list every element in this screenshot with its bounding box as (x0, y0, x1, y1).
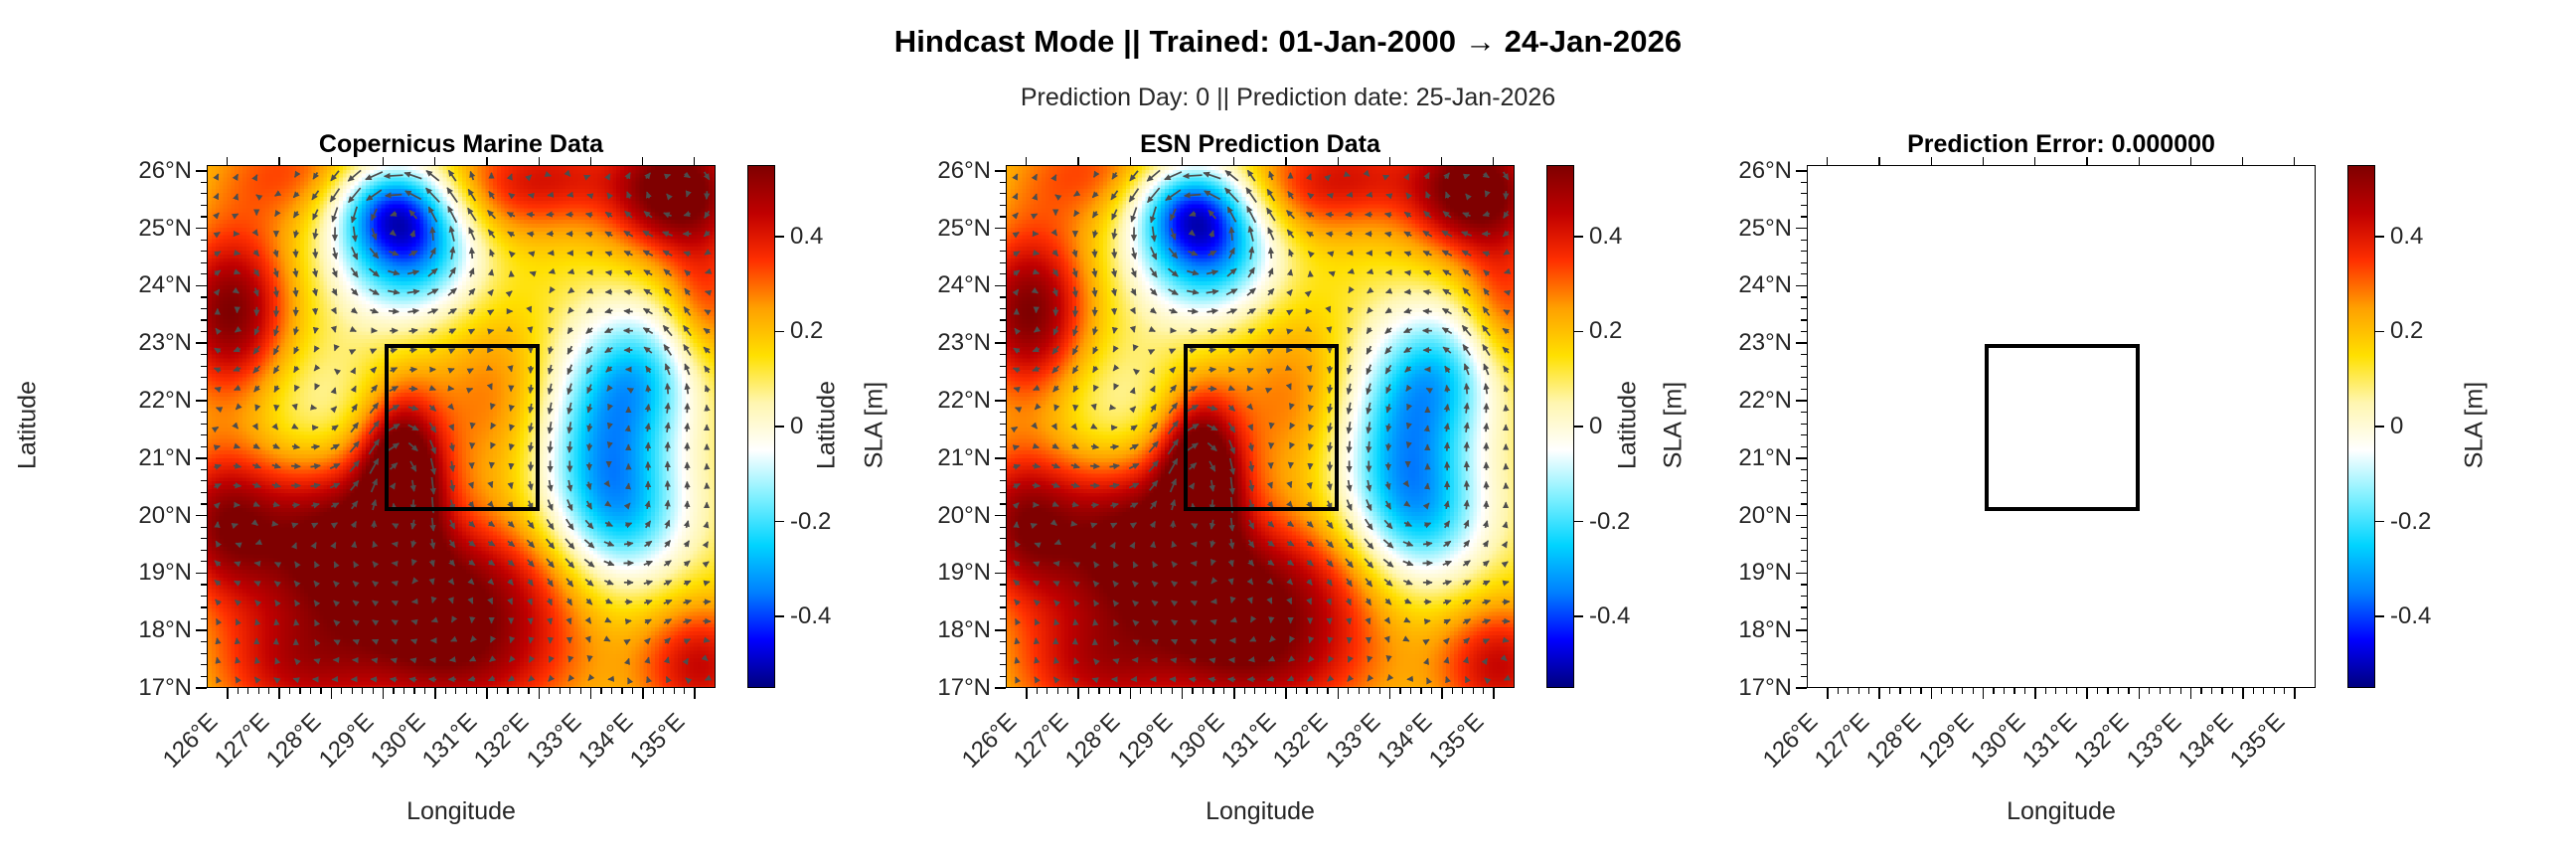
xtick-minor-error-2-3 (1962, 688, 1963, 694)
ytick-minor-error-4-2 (1801, 424, 1807, 425)
ytick-minor-error-4-4 (1801, 446, 1807, 447)
ytick-minor-copernicus-1-1 (201, 240, 207, 241)
xtick-top-error-3 (1983, 157, 1984, 165)
xtick-minor-copernicus-6-4 (580, 688, 581, 694)
ytick-label-esn-5: 21°N (817, 444, 991, 472)
ytick-minor-copernicus-8-1 (201, 641, 207, 642)
xtick-minor-copernicus-0-3 (258, 688, 259, 694)
map-axes-esn (1006, 165, 1515, 688)
xtick-top-esn-2 (1130, 157, 1131, 165)
panel-title-copernicus: Copernicus Marine Data (207, 130, 716, 159)
ytick-label-esn-4: 22°N (817, 387, 991, 415)
xaxis-title-copernicus: Longitude (207, 797, 716, 826)
xtick-minor-copernicus-4-2 (455, 688, 456, 694)
xtick-minor-esn-5-1 (1296, 688, 1297, 694)
ytick-minor-error-2-1 (1801, 296, 1807, 297)
ytick-minor-esn-5-4 (1000, 503, 1006, 504)
xtick-minor-esn-2-2 (1151, 688, 1152, 694)
ytick-label-copernicus-2: 24°N (18, 271, 192, 299)
ytick-major-esn-0 (995, 170, 1006, 172)
xtick-top-esn-9 (1493, 157, 1494, 165)
xtick-minor-copernicus-4-4 (476, 688, 477, 694)
ytick-minor-error-6-1 (1801, 527, 1807, 528)
xtick-minor-error-1-1 (1889, 688, 1890, 694)
ytick-label-error-9: 17°N (1618, 674, 1792, 702)
ytick-minor-error-8-2 (1801, 653, 1807, 654)
ytick-label-error-8: 18°N (1618, 616, 1792, 644)
ytick-label-copernicus-3: 23°N (18, 329, 192, 357)
ytick-minor-copernicus-3-1 (201, 354, 207, 355)
xtick-minor-error-8-1 (2253, 688, 2254, 694)
xtick-minor-esn-7-4 (1431, 688, 1432, 694)
ytick-minor-error-1-2 (1801, 251, 1807, 252)
xtick-minor-esn-6-2 (1359, 688, 1360, 694)
ytick-major-copernicus-9 (196, 687, 207, 689)
ytick-label-error-2: 24°N (1618, 271, 1792, 299)
ytick-minor-error-7-2 (1801, 596, 1807, 597)
ytick-minor-error-4-3 (1801, 434, 1807, 435)
xtick-minor-error-0-2 (1848, 688, 1849, 694)
xtick-minor-esn-5-3 (1317, 688, 1318, 694)
ytick-minor-error-6-3 (1801, 550, 1807, 551)
ytick-minor-copernicus-5-2 (201, 480, 207, 481)
xtick-minor-error-5-4 (2128, 688, 2129, 694)
ytick-label-esn-8: 18°N (817, 616, 991, 644)
ytick-label-esn-6: 20°N (817, 502, 991, 530)
xtick-top-error-9 (2294, 157, 2295, 165)
xtick-major-esn-0 (1026, 688, 1028, 699)
xtick-top-error-1 (1878, 157, 1879, 165)
xtick-top-copernicus-0 (227, 157, 228, 165)
colorbar-tick-copernicus-4 (775, 615, 784, 617)
ytick-major-copernicus-0 (196, 170, 207, 172)
ytick-minor-error-8-3 (1801, 664, 1807, 665)
ytick-minor-copernicus-6-3 (201, 550, 207, 551)
xtick-minor-esn-8-4 (1483, 688, 1484, 694)
ytick-minor-esn-3-1 (1000, 354, 1006, 355)
colorbar-tick-error-0 (2375, 236, 2384, 238)
ytick-minor-error-6-4 (1801, 561, 1807, 562)
xtick-minor-esn-1-2 (1098, 688, 1099, 694)
xtick-minor-esn-4-4 (1275, 688, 1276, 694)
ytick-major-copernicus-3 (196, 342, 207, 344)
ytick-minor-esn-6-4 (1000, 561, 1006, 562)
xtick-minor-esn-7-3 (1420, 688, 1421, 694)
ytick-label-esn-7: 19°N (817, 559, 991, 587)
ytick-label-esn-2: 24°N (817, 271, 991, 299)
xtick-major-copernicus-9 (694, 688, 696, 699)
xtick-minor-copernicus-3-3 (413, 688, 414, 694)
xtick-top-copernicus-7 (590, 157, 591, 165)
ytick-minor-copernicus-6-2 (201, 538, 207, 539)
ytick-label-copernicus-9: 17°N (18, 674, 192, 702)
ytick-minor-esn-1-1 (1000, 240, 1006, 241)
ytick-minor-esn-0-3 (1000, 205, 1006, 206)
ytick-minor-error-5-2 (1801, 480, 1807, 481)
map-axes-error (1807, 165, 2316, 688)
colorbar-tick-label-error-1: 0.2 (2390, 317, 2423, 345)
colorbar-tick-copernicus-3 (775, 521, 784, 523)
ytick-minor-esn-3-4 (1000, 389, 1006, 390)
ytick-major-esn-1 (995, 228, 1006, 230)
ytick-minor-copernicus-4-1 (201, 412, 207, 413)
ytick-minor-error-6-2 (1801, 538, 1807, 539)
ytick-minor-copernicus-8-3 (201, 664, 207, 665)
xtick-major-error-7 (2190, 688, 2192, 699)
xtick-major-esn-1 (1077, 688, 1079, 699)
ytick-major-error-3 (1796, 342, 1807, 344)
ytick-minor-copernicus-2-3 (201, 319, 207, 320)
region-of-interest-box (1985, 344, 2141, 511)
region-of-interest-box (1184, 344, 1340, 511)
ytick-major-error-2 (1796, 285, 1807, 287)
ytick-minor-error-2-4 (1801, 331, 1807, 332)
xtick-minor-copernicus-1-2 (299, 688, 300, 694)
ytick-label-copernicus-0: 26°N (18, 157, 192, 185)
xtick-top-copernicus-9 (694, 157, 695, 165)
xtick-major-error-4 (2034, 688, 2036, 699)
xtick-minor-error-8-2 (2263, 688, 2264, 694)
colorbar-tick-esn-3 (1574, 521, 1583, 523)
xtick-top-copernicus-2 (331, 157, 332, 165)
xtick-major-error-3 (1983, 688, 1985, 699)
ytick-minor-copernicus-6-1 (201, 527, 207, 528)
xtick-minor-copernicus-2-1 (341, 688, 342, 694)
xtick-major-error-5 (2086, 688, 2088, 699)
xtick-major-esn-7 (1389, 688, 1391, 699)
xtick-minor-esn-3-1 (1192, 688, 1193, 694)
ytick-minor-esn-6-2 (1000, 538, 1006, 539)
ytick-minor-copernicus-0-3 (201, 205, 207, 206)
ytick-minor-copernicus-2-2 (201, 308, 207, 309)
ytick-minor-error-5-4 (1801, 503, 1807, 504)
ytick-major-copernicus-8 (196, 629, 207, 631)
xtick-minor-copernicus-7-1 (600, 688, 601, 694)
colorbar-title-esn: SLA [m] (1660, 336, 1689, 515)
xtick-minor-esn-0-1 (1037, 688, 1038, 694)
xtick-minor-error-5-1 (2097, 688, 2098, 694)
xtick-minor-error-2-2 (1952, 688, 1953, 694)
xtick-minor-error-5-3 (2118, 688, 2119, 694)
xaxis-title-esn: Longitude (1006, 797, 1515, 826)
xtick-minor-esn-1-4 (1119, 688, 1120, 694)
ytick-minor-esn-7-4 (1000, 618, 1006, 619)
ytick-major-copernicus-7 (196, 573, 207, 575)
xtick-major-copernicus-5 (486, 688, 488, 699)
ytick-minor-esn-8-3 (1000, 664, 1006, 665)
ytick-label-error-7: 19°N (1618, 559, 1792, 587)
ytick-label-copernicus-6: 20°N (18, 502, 192, 530)
xtick-minor-copernicus-6-2 (560, 688, 561, 694)
ytick-minor-esn-2-4 (1000, 331, 1006, 332)
ytick-major-copernicus-1 (196, 228, 207, 230)
colorbar-esn (1546, 165, 1574, 688)
xtick-minor-esn-5-4 (1327, 688, 1328, 694)
xtick-major-error-1 (1878, 688, 1880, 699)
ytick-minor-error-1-4 (1801, 273, 1807, 274)
ytick-minor-error-7-4 (1801, 618, 1807, 619)
xtick-minor-copernicus-8-2 (663, 688, 664, 694)
xtick-major-esn-3 (1182, 688, 1184, 699)
xtick-top-esn-5 (1285, 157, 1286, 165)
ytick-minor-error-2-2 (1801, 308, 1807, 309)
ytick-minor-copernicus-7-1 (201, 584, 207, 585)
xtick-minor-copernicus-3-2 (403, 688, 404, 694)
ytick-minor-error-7-1 (1801, 584, 1807, 585)
ytick-minor-esn-1-4 (1000, 273, 1006, 274)
ytick-minor-error-3-2 (1801, 366, 1807, 367)
xtick-minor-error-3-3 (2013, 688, 2014, 694)
xtick-top-error-5 (2086, 157, 2087, 165)
ytick-minor-error-0-4 (1801, 216, 1807, 217)
xtick-minor-copernicus-2-2 (352, 688, 353, 694)
yaxis-title-esn: Latitude (813, 276, 842, 575)
xtick-minor-copernicus-8-4 (684, 688, 685, 694)
yaxis-title-copernicus: Latitude (14, 276, 43, 575)
xtick-minor-copernicus-5-1 (497, 688, 498, 694)
xtick-major-esn-5 (1285, 688, 1287, 699)
xtick-minor-esn-0-3 (1057, 688, 1058, 694)
colorbar-title-copernicus: SLA [m] (861, 336, 889, 515)
xtick-minor-error-7-2 (2211, 688, 2212, 694)
ytick-minor-copernicus-3-3 (201, 377, 207, 378)
yaxis-title-error: Latitude (1614, 276, 1643, 575)
ytick-major-error-8 (1796, 629, 1807, 631)
xtick-major-esn-4 (1233, 688, 1235, 699)
xtick-minor-esn-4-1 (1244, 688, 1245, 694)
ytick-label-copernicus-8: 18°N (18, 616, 192, 644)
ytick-minor-error-1-1 (1801, 240, 1807, 241)
xtick-minor-copernicus-5-4 (528, 688, 529, 694)
xtick-major-esn-9 (1493, 688, 1495, 699)
figure-suptitle: Hindcast Mode || Trained: 01-Jan-2000 → … (0, 24, 2576, 60)
xtick-top-esn-6 (1338, 157, 1339, 165)
xtick-minor-error-4-3 (2066, 688, 2067, 694)
xtick-minor-error-7-3 (2221, 688, 2222, 694)
xtick-minor-error-3-2 (2004, 688, 2005, 694)
xtick-minor-error-8-3 (2274, 688, 2275, 694)
xtick-major-esn-2 (1130, 688, 1132, 699)
xtick-top-error-8 (2242, 157, 2243, 165)
xtick-minor-error-2-1 (1941, 688, 1942, 694)
ytick-major-esn-3 (995, 342, 1006, 344)
ytick-minor-esn-4-2 (1000, 424, 1006, 425)
xtick-major-error-6 (2139, 688, 2141, 699)
ytick-major-copernicus-5 (196, 457, 207, 459)
xtick-minor-copernicus-3-4 (424, 688, 425, 694)
ytick-major-esn-2 (995, 285, 1006, 287)
xtick-minor-copernicus-1-4 (320, 688, 321, 694)
ytick-minor-esn-8-4 (1000, 676, 1006, 677)
ytick-minor-copernicus-1-2 (201, 251, 207, 252)
xtick-minor-copernicus-6-3 (569, 688, 570, 694)
xtick-minor-esn-5-2 (1306, 688, 1307, 694)
xtick-minor-esn-8-3 (1473, 688, 1474, 694)
ytick-minor-error-1-3 (1801, 262, 1807, 263)
colorbar-title-error: SLA [m] (2461, 336, 2490, 515)
xtick-minor-esn-0-4 (1067, 688, 1068, 694)
ytick-label-copernicus-5: 21°N (18, 444, 192, 472)
xtick-minor-error-4-1 (2045, 688, 2046, 694)
ytick-minor-esn-3-2 (1000, 366, 1006, 367)
xtick-minor-copernicus-0-4 (268, 688, 269, 694)
ytick-major-esn-7 (995, 573, 1006, 575)
ytick-major-copernicus-4 (196, 400, 207, 402)
ytick-minor-esn-0-2 (1000, 193, 1006, 194)
xtick-major-error-2 (1931, 688, 1933, 699)
ytick-minor-esn-8-1 (1000, 641, 1006, 642)
ytick-minor-copernicus-0-2 (201, 193, 207, 194)
xtick-minor-esn-1-1 (1088, 688, 1089, 694)
ytick-minor-error-3-4 (1801, 389, 1807, 390)
ytick-minor-esn-7-2 (1000, 596, 1006, 597)
ytick-minor-error-0-2 (1801, 193, 1807, 194)
ytick-minor-error-5-3 (1801, 492, 1807, 493)
xtick-minor-copernicus-2-3 (362, 688, 363, 694)
ytick-label-copernicus-1: 25°N (18, 215, 192, 243)
ytick-minor-esn-7-1 (1000, 584, 1006, 585)
xtick-minor-copernicus-7-3 (621, 688, 622, 694)
xtick-major-copernicus-8 (642, 688, 644, 699)
ytick-minor-copernicus-2-4 (201, 331, 207, 332)
ytick-minor-esn-7-3 (1000, 606, 1006, 607)
ytick-minor-error-4-1 (1801, 412, 1807, 413)
region-of-interest-box (385, 344, 541, 511)
ytick-minor-copernicus-5-3 (201, 492, 207, 493)
colorbar-tick-label-error-0: 0.4 (2390, 223, 2423, 251)
xaxis-title-error: Longitude (1807, 797, 2316, 826)
colorbar-tick-label-error-3: -0.2 (2390, 508, 2431, 536)
colorbar-error (2347, 165, 2375, 688)
xtick-major-error-9 (2294, 688, 2296, 699)
ytick-minor-copernicus-4-3 (201, 434, 207, 435)
ytick-major-esn-5 (995, 457, 1006, 459)
ytick-major-error-7 (1796, 573, 1807, 575)
xtick-minor-error-3-1 (1993, 688, 1994, 694)
ytick-minor-esn-5-2 (1000, 480, 1006, 481)
ytick-minor-error-7-3 (1801, 606, 1807, 607)
ytick-minor-copernicus-4-4 (201, 446, 207, 447)
xtick-major-copernicus-3 (383, 688, 385, 699)
colorbar-tick-copernicus-1 (775, 331, 784, 333)
ytick-minor-esn-5-1 (1000, 469, 1006, 470)
xtick-minor-esn-2-1 (1140, 688, 1141, 694)
ytick-major-esn-9 (995, 687, 1006, 689)
ytick-label-error-4: 22°N (1618, 387, 1792, 415)
xtick-major-copernicus-0 (227, 688, 229, 699)
xtick-top-copernicus-6 (539, 157, 540, 165)
xtick-minor-copernicus-0-2 (247, 688, 248, 694)
xtick-minor-esn-6-3 (1368, 688, 1369, 694)
ytick-major-esn-4 (995, 400, 1006, 402)
xtick-minor-copernicus-0-1 (238, 688, 239, 694)
xtick-minor-error-0-3 (1858, 688, 1859, 694)
colorbar-tick-esn-2 (1574, 426, 1583, 428)
xtick-minor-copernicus-4-1 (445, 688, 446, 694)
xtick-minor-esn-2-4 (1172, 688, 1173, 694)
xtick-minor-esn-6-4 (1379, 688, 1380, 694)
xtick-major-esn-8 (1441, 688, 1443, 699)
xtick-minor-esn-1-3 (1109, 688, 1110, 694)
xtick-minor-esn-4-2 (1254, 688, 1255, 694)
ytick-minor-copernicus-5-1 (201, 469, 207, 470)
ytick-minor-copernicus-4-2 (201, 424, 207, 425)
ytick-minor-copernicus-7-3 (201, 606, 207, 607)
ytick-minor-error-8-4 (1801, 676, 1807, 677)
ytick-minor-esn-3-3 (1000, 377, 1006, 378)
xtick-minor-error-6-4 (2180, 688, 2181, 694)
xtick-major-error-0 (1827, 688, 1829, 699)
ytick-label-esn-9: 17°N (817, 674, 991, 702)
ytick-minor-error-5-1 (1801, 469, 1807, 470)
xtick-minor-esn-2-3 (1161, 688, 1162, 694)
xtick-top-copernicus-5 (486, 157, 487, 165)
xtick-major-copernicus-4 (434, 688, 436, 699)
ytick-minor-esn-1-3 (1000, 262, 1006, 263)
xtick-minor-copernicus-8-1 (653, 688, 654, 694)
ytick-label-error-1: 25°N (1618, 215, 1792, 243)
xtick-minor-copernicus-3-1 (393, 688, 394, 694)
ytick-minor-error-3-3 (1801, 377, 1807, 378)
xtick-top-error-4 (2034, 157, 2035, 165)
xtick-major-copernicus-6 (539, 688, 541, 699)
ytick-minor-esn-2-2 (1000, 308, 1006, 309)
xtick-minor-error-1-3 (1910, 688, 1911, 694)
xtick-major-esn-6 (1338, 688, 1340, 699)
xtick-top-copernicus-1 (278, 157, 279, 165)
colorbar-tick-label-esn-2: 0 (1589, 413, 1602, 440)
colorbar-tick-error-4 (2375, 615, 2384, 617)
colorbar-tick-esn-1 (1574, 331, 1583, 333)
xtick-top-copernicus-3 (383, 157, 384, 165)
xtick-minor-error-0-4 (1868, 688, 1869, 694)
xtick-major-error-8 (2242, 688, 2244, 699)
xtick-minor-error-8-4 (2284, 688, 2285, 694)
ytick-minor-esn-4-1 (1000, 412, 1006, 413)
xtick-minor-copernicus-2-4 (373, 688, 374, 694)
panel-title-error: Prediction Error: 0.000000 (1807, 130, 2316, 159)
xtick-minor-error-1-4 (1920, 688, 1921, 694)
xtick-minor-copernicus-4-3 (466, 688, 467, 694)
ytick-label-copernicus-7: 19°N (18, 559, 192, 587)
colorbar-tick-label-copernicus-2: 0 (790, 413, 803, 440)
ytick-minor-esn-0-4 (1000, 216, 1006, 217)
xtick-major-copernicus-2 (331, 688, 333, 699)
colorbar-tick-esn-0 (1574, 236, 1583, 238)
xtick-minor-copernicus-1-3 (310, 688, 311, 694)
xtick-minor-error-6-2 (2160, 688, 2161, 694)
ytick-minor-copernicus-7-2 (201, 596, 207, 597)
ytick-minor-error-3-1 (1801, 354, 1807, 355)
xtick-minor-error-6-3 (2170, 688, 2171, 694)
ytick-minor-copernicus-3-2 (201, 366, 207, 367)
xtick-minor-error-4-4 (2076, 688, 2077, 694)
colorbar-tick-error-2 (2375, 426, 2384, 428)
xtick-minor-error-2-4 (1973, 688, 1974, 694)
ytick-minor-copernicus-8-4 (201, 676, 207, 677)
xtick-minor-copernicus-7-4 (632, 688, 633, 694)
ytick-minor-copernicus-2-1 (201, 296, 207, 297)
xtick-top-copernicus-8 (642, 157, 643, 165)
xtick-minor-esn-4-3 (1265, 688, 1266, 694)
ytick-major-error-9 (1796, 687, 1807, 689)
xtick-minor-esn-0-2 (1046, 688, 1047, 694)
xtick-top-esn-0 (1026, 157, 1027, 165)
xtick-minor-esn-3-4 (1223, 688, 1224, 694)
xtick-minor-copernicus-6-1 (549, 688, 550, 694)
xtick-top-error-2 (1931, 157, 1932, 165)
ytick-label-error-0: 26°N (1618, 157, 1792, 185)
